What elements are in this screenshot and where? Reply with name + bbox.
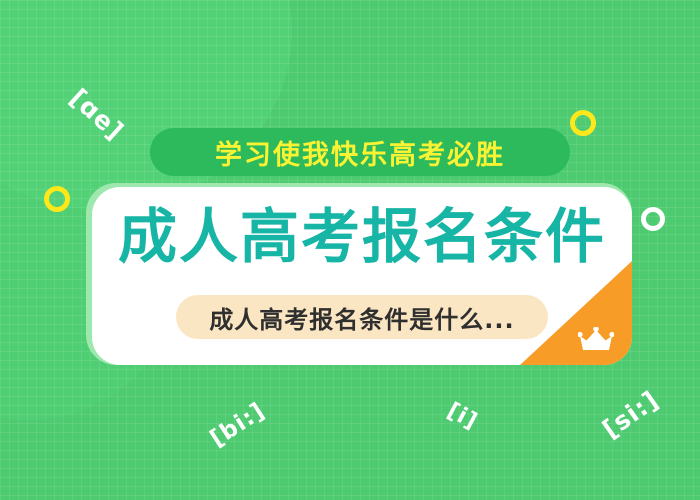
page-title: 成人高考报名条件 xyxy=(92,207,632,266)
ring-yellow-left-icon xyxy=(44,186,70,212)
main-card: 成人高考报名条件 成人高考报名条件是什么... xyxy=(92,187,632,365)
subtitle-text: 成人高考报名条件是什么... xyxy=(209,300,514,335)
poster-canvas: [ɑe] [bi:] [i] [si:] 学习使我快乐高考必胜 成人高考报名条件… xyxy=(0,0,700,500)
crown-icon xyxy=(578,327,614,353)
slogan-banner-text: 学习使我快乐高考必胜 xyxy=(215,133,505,172)
subtitle-pill: 成人高考报名条件是什么... xyxy=(176,295,548,339)
ring-white-right-icon xyxy=(641,207,665,231)
slogan-banner: 学习使我快乐高考必胜 xyxy=(150,128,570,176)
ring-yellow-top-right-icon xyxy=(570,110,596,136)
